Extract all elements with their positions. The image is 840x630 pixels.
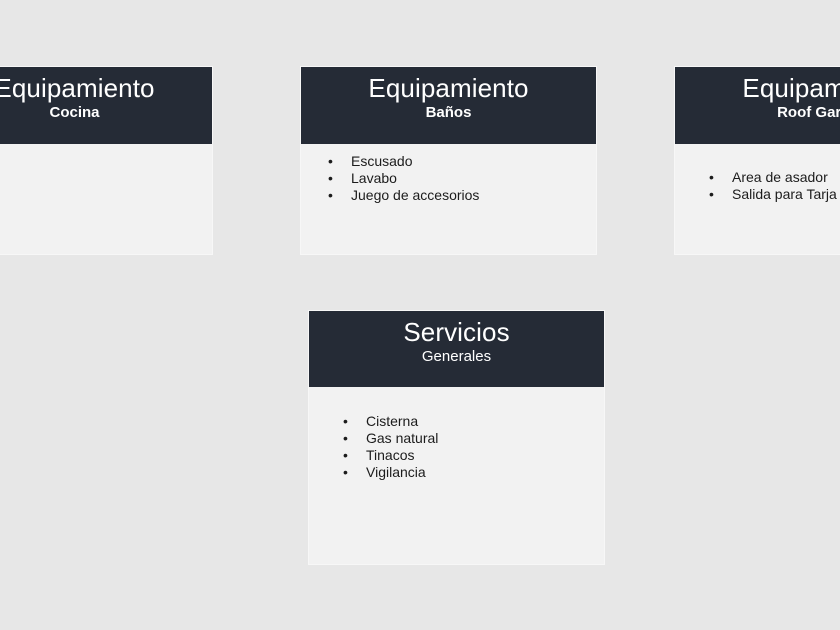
card-header-roof-garden: Equipamiento Roof Garden xyxy=(675,67,840,144)
list-item-label: Area de asador xyxy=(732,169,828,186)
list-item: • Tinacos xyxy=(343,447,604,464)
list-item-label: Gas natural xyxy=(366,430,438,447)
list-item: • a xyxy=(0,158,212,175)
list-item: • Cisterna xyxy=(343,413,604,430)
bullet-point-icon: • xyxy=(343,430,366,447)
card-body-servicios: • Cisterna • Gas natural • Tinacos • Vig… xyxy=(309,387,604,564)
list-item-label: Lavabo xyxy=(351,170,397,187)
bullet-list-servicios: • Cisterna • Gas natural • Tinacos • Vig… xyxy=(309,413,604,481)
card-servicios-generales[interactable]: Servicios Generales • Cisterna • Gas nat… xyxy=(308,310,605,565)
bullet-point-icon: • xyxy=(343,447,366,464)
list-item: • Gas natural xyxy=(343,430,604,447)
card-body-roof-garden: • Area de asador • Salida para Tarja xyxy=(675,144,840,254)
list-item: • Lavabo xyxy=(328,170,596,187)
list-item: • Vigilancia xyxy=(343,464,604,481)
list-item-label: Tinacos xyxy=(366,447,415,464)
card-subtitle-cocina: Cocina xyxy=(0,103,208,123)
bullet-point-icon: • xyxy=(328,170,351,187)
list-item-label: Salida para Tarja xyxy=(732,186,837,203)
card-subtitle-servicios: Generales xyxy=(313,347,600,367)
bullet-point-icon: • xyxy=(709,186,732,203)
slide-canvas: Equipamiento Cocina • a Equipamiento Bañ… xyxy=(0,0,840,630)
card-title-banos: Equipamiento xyxy=(305,73,592,103)
list-item-label: Escusado xyxy=(351,153,412,170)
list-item: • Area de asador xyxy=(709,169,840,186)
card-header-banos: Equipamiento Baños xyxy=(301,67,596,144)
card-subtitle-banos: Baños xyxy=(305,103,592,123)
card-title-servicios: Servicios xyxy=(313,317,600,347)
card-equipamiento-banos[interactable]: Equipamiento Baños • Escusado • Lavabo •… xyxy=(300,66,597,255)
list-item-label: Juego de accesorios xyxy=(351,187,479,204)
bullet-point-icon: • xyxy=(328,153,351,170)
card-header-servicios: Servicios Generales xyxy=(309,311,604,387)
list-item-label: Cisterna xyxy=(366,413,418,430)
card-subtitle-roof-garden: Roof Garden xyxy=(679,103,840,123)
bullet-point-icon: • xyxy=(343,413,366,430)
card-title-roof-garden: Equipamiento xyxy=(679,73,840,103)
bullet-list-roof-garden: • Area de asador • Salida para Tarja xyxy=(675,169,840,203)
bullet-list-banos: • Escusado • Lavabo • Juego de accesorio… xyxy=(301,153,596,204)
card-body-cocina: • a xyxy=(0,144,212,254)
list-item: • Escusado xyxy=(328,153,596,170)
card-header-cocina: Equipamiento Cocina xyxy=(0,67,212,144)
bullet-list-cocina: • a xyxy=(0,158,212,175)
bullet-point-icon: • xyxy=(343,464,366,481)
list-item-label: Vigilancia xyxy=(366,464,426,481)
list-item: • Salida para Tarja xyxy=(709,186,840,203)
bullet-point-icon: • xyxy=(709,169,732,186)
list-item: • Juego de accesorios xyxy=(328,187,596,204)
bullet-point-icon: • xyxy=(328,187,351,204)
card-equipamiento-cocina[interactable]: Equipamiento Cocina • a xyxy=(0,66,213,255)
card-body-banos: • Escusado • Lavabo • Juego de accesorio… xyxy=(301,144,596,254)
card-equipamiento-roof-garden[interactable]: Equipamiento Roof Garden • Area de asado… xyxy=(674,66,840,255)
card-title-cocina: Equipamiento xyxy=(0,73,208,103)
